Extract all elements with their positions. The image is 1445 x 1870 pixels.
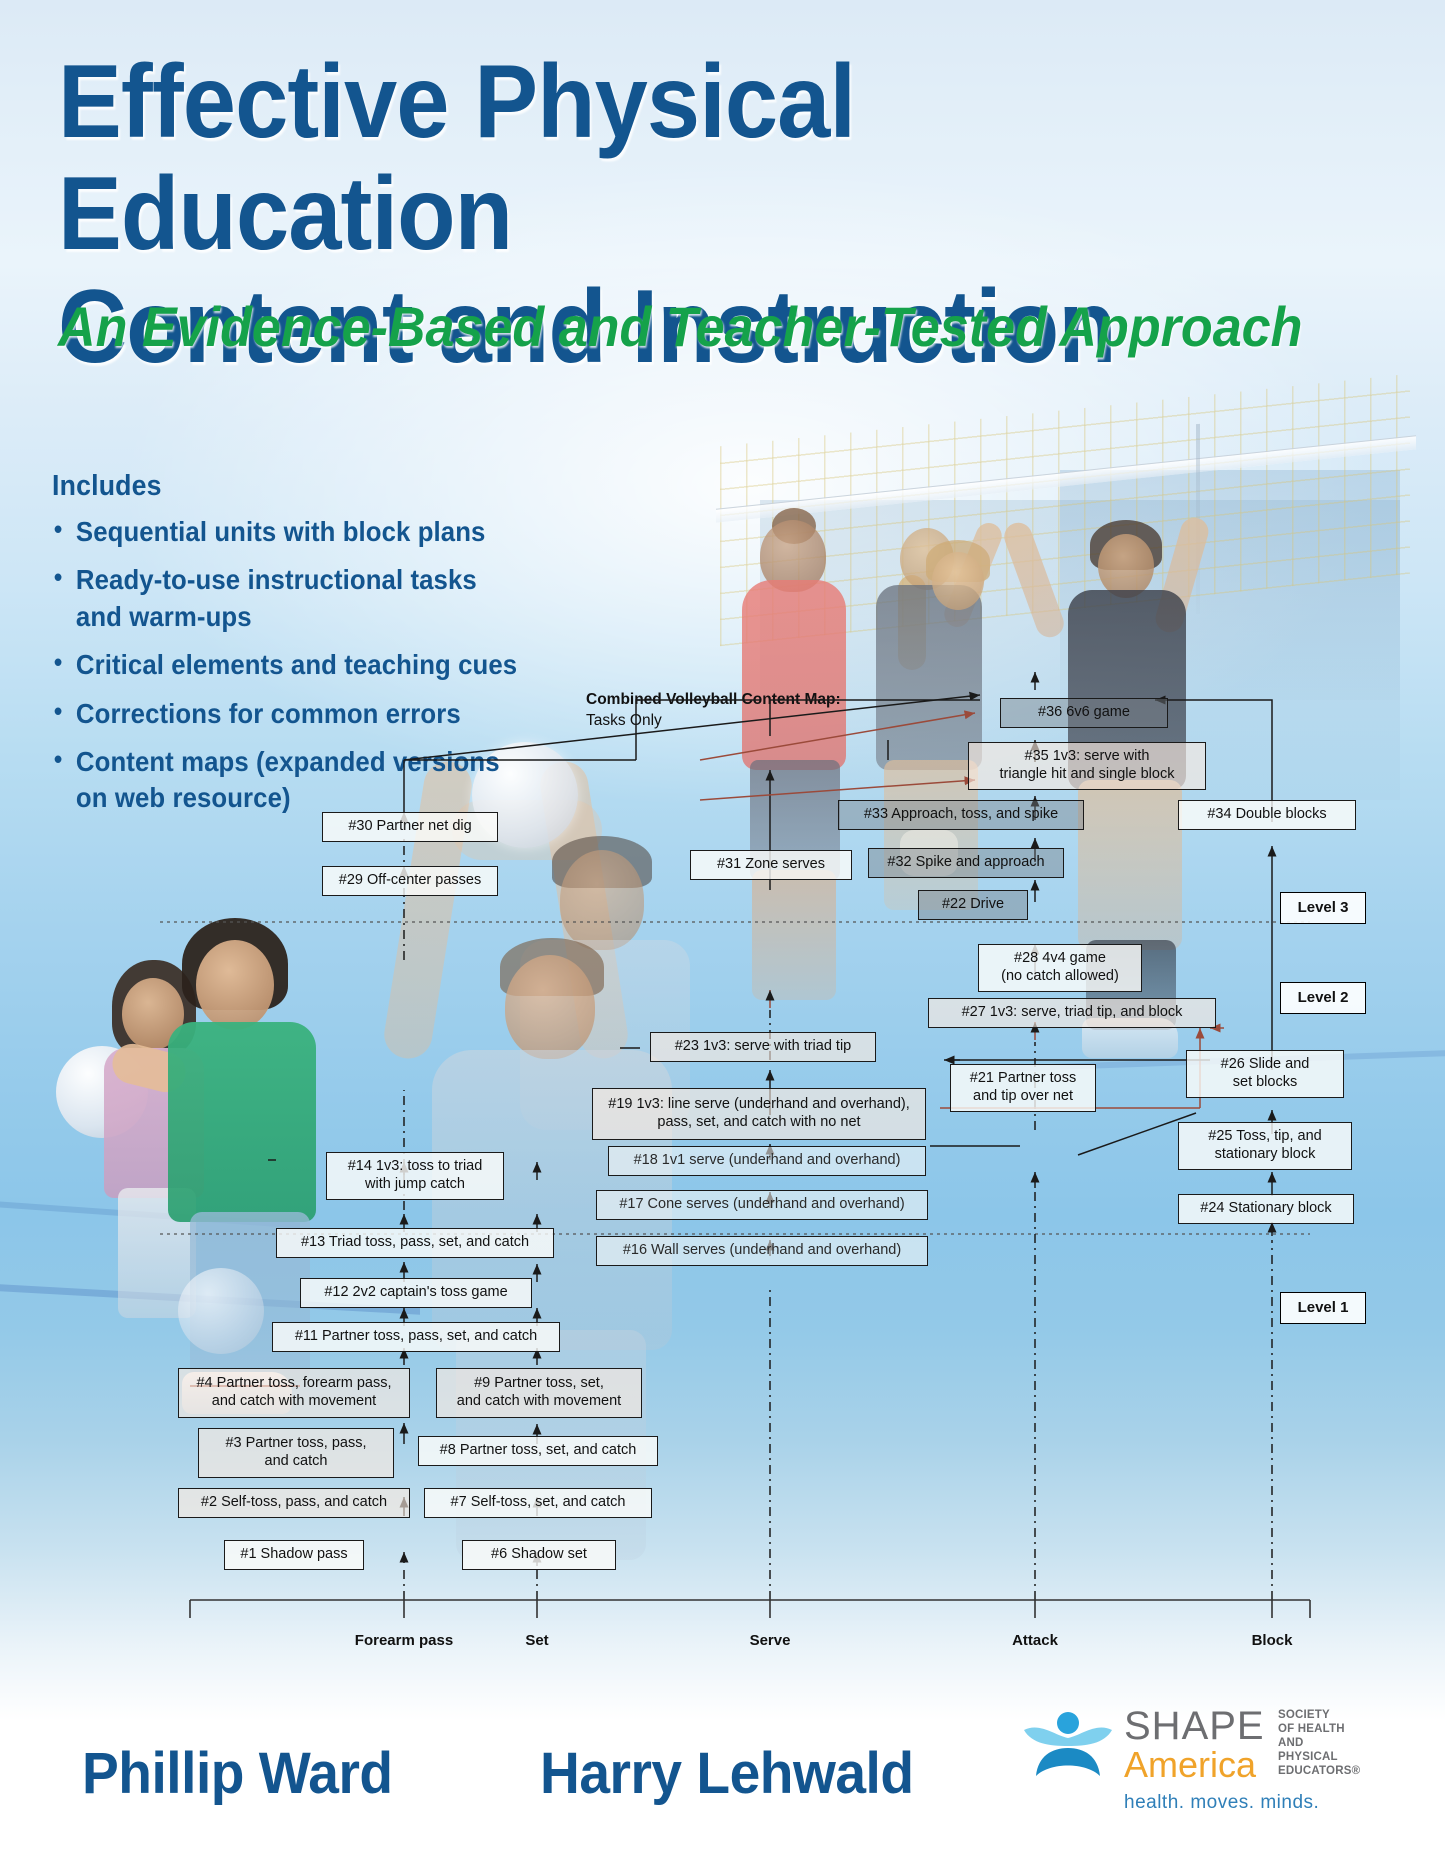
content-map-title-line2: Tasks Only [586, 711, 841, 732]
axis-label-set: Set [487, 1632, 587, 1649]
node-8[interactable]: #8 Partner toss, set, and catch [418, 1436, 658, 1466]
node-33[interactable]: #33 Approach, toss, and spike [838, 800, 1084, 830]
america-word: America [1124, 1746, 1265, 1784]
content-map: Combined Volleyball Content Map: Tasks O… [0, 0, 1445, 1870]
node-4[interactable]: #4 Partner toss, forearm pass, and catch… [178, 1368, 410, 1418]
node-18[interactable]: #18 1v1 serve (underhand and overhand) [608, 1146, 926, 1176]
node-2[interactable]: #2 Self-toss, pass, and catch [178, 1488, 410, 1518]
node-13[interactable]: #13 Triad toss, pass, set, and catch [276, 1228, 554, 1258]
content-map-edges [0, 0, 1445, 1870]
node-21[interactable]: #21 Partner toss and tip over net [950, 1064, 1096, 1112]
author-name-2: Harry Lehwald [540, 1740, 914, 1807]
node-7[interactable]: #7 Self-toss, set, and catch [424, 1488, 652, 1518]
level-badge-1: Level 1 [1280, 1292, 1366, 1324]
content-map-title: Combined Volleyball Content Map: Tasks O… [586, 690, 841, 732]
node-36[interactable]: #36 6v6 game [1000, 698, 1168, 728]
book-cover: Effective Physical Education Content and… [0, 0, 1445, 1870]
content-map-title-line1: Combined Volleyball Content Map: [586, 690, 841, 711]
node-32[interactable]: #32 Spike and approach [868, 848, 1064, 878]
shape-america-wordmark: SHAPE America [1124, 1706, 1265, 1784]
axis-label-serve: Serve [718, 1632, 822, 1649]
node-24[interactable]: #24 Stationary block [1178, 1194, 1354, 1224]
node-6[interactable]: #6 Shadow set [462, 1540, 616, 1570]
shape-america-figure-icon [1020, 1710, 1116, 1782]
author-name-1: Phillip Ward [82, 1740, 393, 1807]
level-badge-3: Level 3 [1280, 892, 1366, 924]
node-28[interactable]: #28 4v4 game (no catch allowed) [978, 944, 1142, 992]
node-9[interactable]: #9 Partner toss, set, and catch with mov… [436, 1368, 642, 1418]
node-1[interactable]: #1 Shadow pass [224, 1540, 364, 1570]
node-35[interactable]: #35 1v3: serve with triangle hit and sin… [968, 742, 1206, 790]
node-26[interactable]: #26 Slide and set blocks [1186, 1050, 1344, 1098]
axis-label-block: Block [1220, 1632, 1324, 1649]
node-3[interactable]: #3 Partner toss, pass, and catch [198, 1428, 394, 1478]
society-subtext: SOCIETY OF HEALTH AND PHYSICAL EDUCATORS… [1278, 1708, 1360, 1778]
node-17[interactable]: #17 Cone serves (underhand and overhand) [596, 1190, 928, 1220]
node-29[interactable]: #29 Off-center passes [322, 866, 498, 896]
node-11[interactable]: #11 Partner toss, pass, set, and catch [272, 1322, 560, 1352]
node-30[interactable]: #30 Partner net dig [322, 812, 498, 842]
shape-word: SHAPE [1124, 1706, 1265, 1746]
shape-america-tagline: health. moves. minds. [1124, 1792, 1319, 1814]
node-31[interactable]: #31 Zone serves [690, 850, 852, 880]
node-19[interactable]: #19 1v3: line serve (underhand and overh… [592, 1088, 926, 1140]
node-27[interactable]: #27 1v3: serve, triad tip, and block [928, 998, 1216, 1028]
node-12[interactable]: #12 2v2 captain's toss game [300, 1278, 532, 1308]
level-badge-2: Level 2 [1280, 982, 1366, 1014]
axis-label-forearm-pass: Forearm pass [324, 1632, 484, 1649]
shape-america-logo: SHAPE America SOCIETY OF HEALTH AND PHYS… [1020, 1706, 1340, 1826]
node-22[interactable]: #22 Drive [918, 890, 1028, 920]
axis-label-attack: Attack [983, 1632, 1087, 1649]
node-14[interactable]: #14 1v3: toss to triad with jump catch [326, 1152, 504, 1200]
node-25[interactable]: #25 Toss, tip, and stationary block [1178, 1122, 1352, 1170]
node-16[interactable]: #16 Wall serves (underhand and overhand) [596, 1236, 928, 1266]
node-23[interactable]: #23 1v3: serve with triad tip [650, 1032, 876, 1062]
node-34[interactable]: #34 Double blocks [1178, 800, 1356, 830]
